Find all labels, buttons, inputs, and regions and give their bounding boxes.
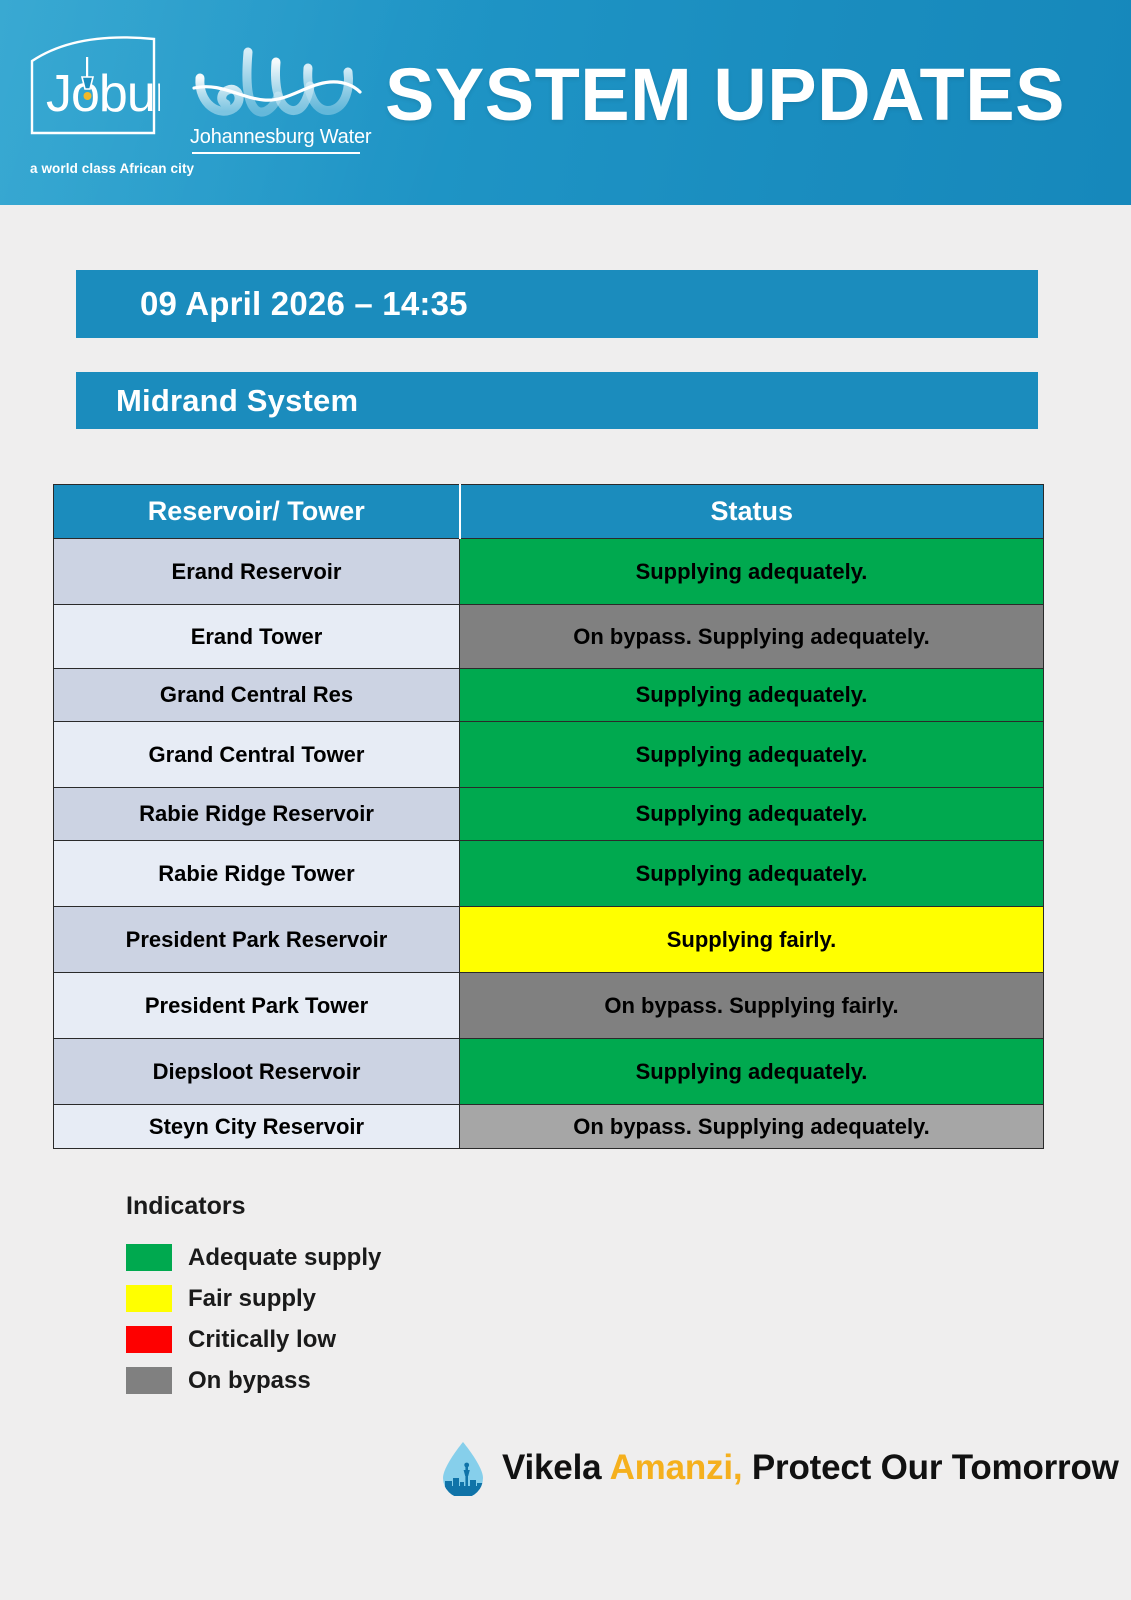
column-header-status: Status bbox=[460, 485, 1044, 539]
indicator-item: Critically low bbox=[126, 1319, 546, 1360]
status-cell: Supplying fairly. bbox=[460, 907, 1044, 973]
status-cell: Supplying adequately. bbox=[460, 669, 1044, 722]
table-row: President Park ReservoirSupplying fairly… bbox=[54, 907, 1044, 973]
indicator-list: Adequate supplyFair supplyCritically low… bbox=[126, 1237, 546, 1401]
system-name: Midrand System bbox=[76, 383, 358, 419]
table-header-row: Reservoir/ Tower Status bbox=[54, 485, 1044, 539]
table-row: Rabie Ridge TowerSupplying adequately. bbox=[54, 841, 1044, 907]
table-row: President Park TowerOn bypass. Supplying… bbox=[54, 973, 1044, 1039]
table-row: Steyn City ReservoirOn bypass. Supplying… bbox=[54, 1105, 1044, 1149]
johannesburg-water-logo: Johannesburg Water bbox=[190, 42, 362, 154]
indicator-label: Adequate supply bbox=[188, 1244, 381, 1272]
indicator-swatch-icon bbox=[126, 1367, 172, 1394]
reservoir-name-cell: Rabie Ridge Tower bbox=[54, 841, 460, 907]
joburg-tagline: a world class African city bbox=[30, 161, 194, 176]
indicator-swatch-icon bbox=[126, 1244, 172, 1271]
reservoir-name-cell: Steyn City Reservoir bbox=[54, 1105, 460, 1149]
status-cell: Supplying adequately. bbox=[460, 841, 1044, 907]
indicator-label: Critically low bbox=[188, 1326, 336, 1354]
column-header-reservoir-tower: Reservoir/ Tower bbox=[54, 485, 460, 539]
joburg-badge-icon: Joburg bbox=[28, 33, 160, 139]
table-row: Erand ReservoirSupplying adequately. bbox=[54, 539, 1044, 605]
footer-slogan-part1: Vikela bbox=[502, 1448, 610, 1487]
reservoir-name-cell: Grand Central Tower bbox=[54, 722, 460, 788]
table-row: Rabie Ridge ReservoirSupplying adequatel… bbox=[54, 788, 1044, 841]
table-row: Grand Central ResSupplying adequately. bbox=[54, 669, 1044, 722]
reservoir-name-cell: Grand Central Res bbox=[54, 669, 460, 722]
page-header: Joburg a world class African city bbox=[0, 0, 1131, 205]
reservoir-name-cell: Rabie Ridge Reservoir bbox=[54, 788, 460, 841]
footer-slogan: Vikela Amanzi, Protect Our Tomorrow bbox=[502, 1448, 1119, 1488]
status-cell: On bypass. Supplying fairly. bbox=[460, 973, 1044, 1039]
footer-slogan-part2: Protect Our Tomorrow bbox=[742, 1448, 1118, 1487]
status-cell: Supplying adequately. bbox=[460, 539, 1044, 605]
date-banner-text: 09 April 2026 – 14:35 bbox=[76, 285, 468, 323]
reservoir-name-cell: Diepsloot Reservoir bbox=[54, 1039, 460, 1105]
reservoir-name-cell: Erand Tower bbox=[54, 605, 460, 669]
status-cell: Supplying adequately. bbox=[460, 722, 1044, 788]
svg-text:Joburg: Joburg bbox=[46, 65, 160, 123]
indicators-title: Indicators bbox=[126, 1192, 546, 1221]
status-cell: Supplying adequately. bbox=[460, 1039, 1044, 1105]
johannesburg-water-name: Johannesburg Water bbox=[190, 126, 362, 149]
reservoir-name-cell: President Park Reservoir bbox=[54, 907, 460, 973]
table-row: Diepsloot ReservoirSupplying adequately. bbox=[54, 1039, 1044, 1105]
table-row: Erand TowerOn bypass. Supplying adequate… bbox=[54, 605, 1044, 669]
system-banner: Midrand System bbox=[76, 372, 1038, 429]
indicator-swatch-icon bbox=[126, 1285, 172, 1312]
reservoir-name-cell: Erand Reservoir bbox=[54, 539, 460, 605]
water-wave-icon bbox=[190, 42, 362, 124]
indicator-item: Adequate supply bbox=[126, 1237, 546, 1278]
indicator-label: Fair supply bbox=[188, 1285, 316, 1313]
indicator-swatch-icon bbox=[126, 1326, 172, 1353]
water-droplet-icon bbox=[440, 1440, 486, 1496]
jw-underline bbox=[192, 152, 360, 154]
reservoir-name-cell: President Park Tower bbox=[54, 973, 460, 1039]
reservoir-status-table: Reservoir/ Tower Status Erand ReservoirS… bbox=[53, 484, 1044, 1149]
status-cell: On bypass. Supplying adequately. bbox=[460, 1105, 1044, 1149]
table-row: Grand Central TowerSupplying adequately. bbox=[54, 722, 1044, 788]
indicator-item: On bypass bbox=[126, 1360, 546, 1401]
date-banner: 09 April 2026 – 14:35 bbox=[76, 270, 1038, 338]
footer-slogan-accent: Amanzi, bbox=[610, 1448, 743, 1487]
status-cell: Supplying adequately. bbox=[460, 788, 1044, 841]
indicator-label: On bypass bbox=[188, 1367, 311, 1395]
table-head: Reservoir/ Tower Status bbox=[54, 485, 1044, 539]
footer-slogan-block: Vikela Amanzi, Protect Our Tomorrow bbox=[440, 1440, 1119, 1496]
indicators-legend: Indicators Adequate supplyFair supplyCri… bbox=[126, 1192, 546, 1401]
page-title: SYSTEM UPDATES bbox=[385, 58, 1065, 132]
indicator-item: Fair supply bbox=[126, 1278, 546, 1319]
status-cell: On bypass. Supplying adequately. bbox=[460, 605, 1044, 669]
joburg-logo: Joburg a world class African city bbox=[28, 33, 168, 178]
table-body: Erand ReservoirSupplying adequately.Eran… bbox=[54, 539, 1044, 1149]
